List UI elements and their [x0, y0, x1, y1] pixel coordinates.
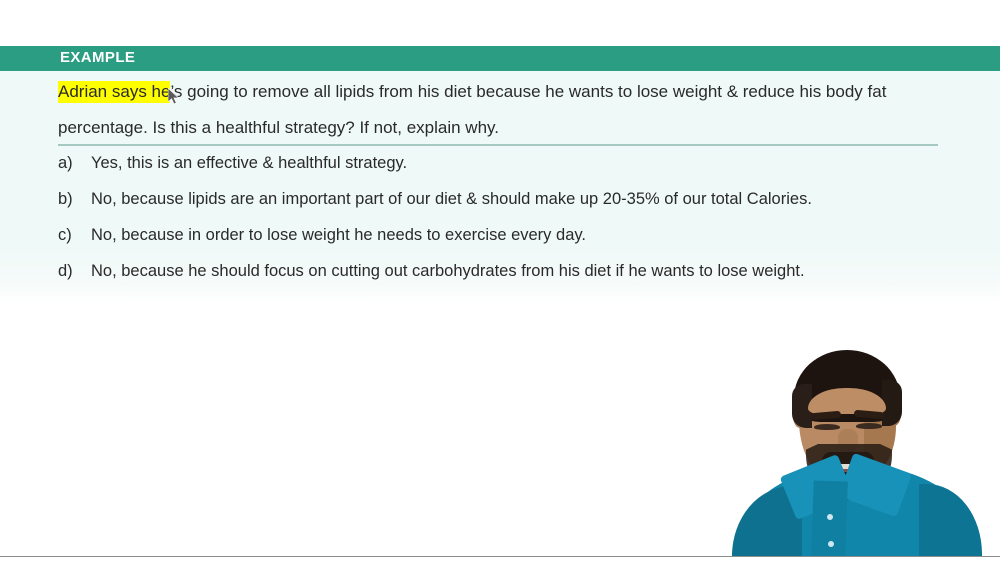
- bottom-separator: [0, 556, 1000, 557]
- example-header-bar: EXAMPLE: [0, 46, 1000, 71]
- example-header-label: EXAMPLE: [60, 49, 135, 66]
- question-line2: percentage. Is this a healthful strategy…: [58, 118, 499, 137]
- instructor-video-overlay[interactable]: [714, 336, 1000, 557]
- option-letter-c: c): [58, 226, 91, 245]
- option-letter-d: d): [58, 262, 91, 281]
- option-letter-b: b): [58, 190, 91, 209]
- shirt-shadow-right: [919, 484, 982, 557]
- answer-option-b[interactable]: b) No, because lipids are an important p…: [58, 190, 958, 226]
- option-letter-a: a): [58, 154, 91, 173]
- example-slide-panel: EXAMPLE Adrian says he’s going to remove…: [0, 46, 1000, 304]
- question-text: Adrian says he’s going to remove all lip…: [58, 74, 948, 146]
- answer-option-c[interactable]: c) No, because in order to lose weight h…: [58, 226, 958, 262]
- option-text-a: Yes, this is an effective & healthful st…: [91, 154, 958, 173]
- question-divider: [58, 144, 938, 146]
- option-text-b: No, because lipids are an important part…: [91, 190, 958, 209]
- answer-option-d[interactable]: d) No, because he should focus on cuttin…: [58, 262, 958, 298]
- eye-left: [814, 424, 840, 430]
- eye-right: [856, 423, 882, 429]
- slide-screen: EXAMPLE Adrian says he’s going to remove…: [0, 0, 1000, 562]
- question-line1-rest: ’s going to remove all lipids from his d…: [170, 82, 886, 101]
- option-text-c: No, because in order to lose weight he n…: [91, 226, 958, 245]
- instructor-portrait: [714, 336, 1000, 557]
- shirt-button-top: [827, 514, 833, 520]
- answer-option-a[interactable]: a) Yes, this is an effective & healthful…: [58, 154, 958, 190]
- highlighted-phrase: Adrian says he: [58, 81, 170, 103]
- shirt-button-bottom: [828, 541, 834, 547]
- answer-options-list: a) Yes, this is an effective & healthful…: [58, 154, 958, 298]
- option-text-d: No, because he should focus on cutting o…: [91, 262, 958, 281]
